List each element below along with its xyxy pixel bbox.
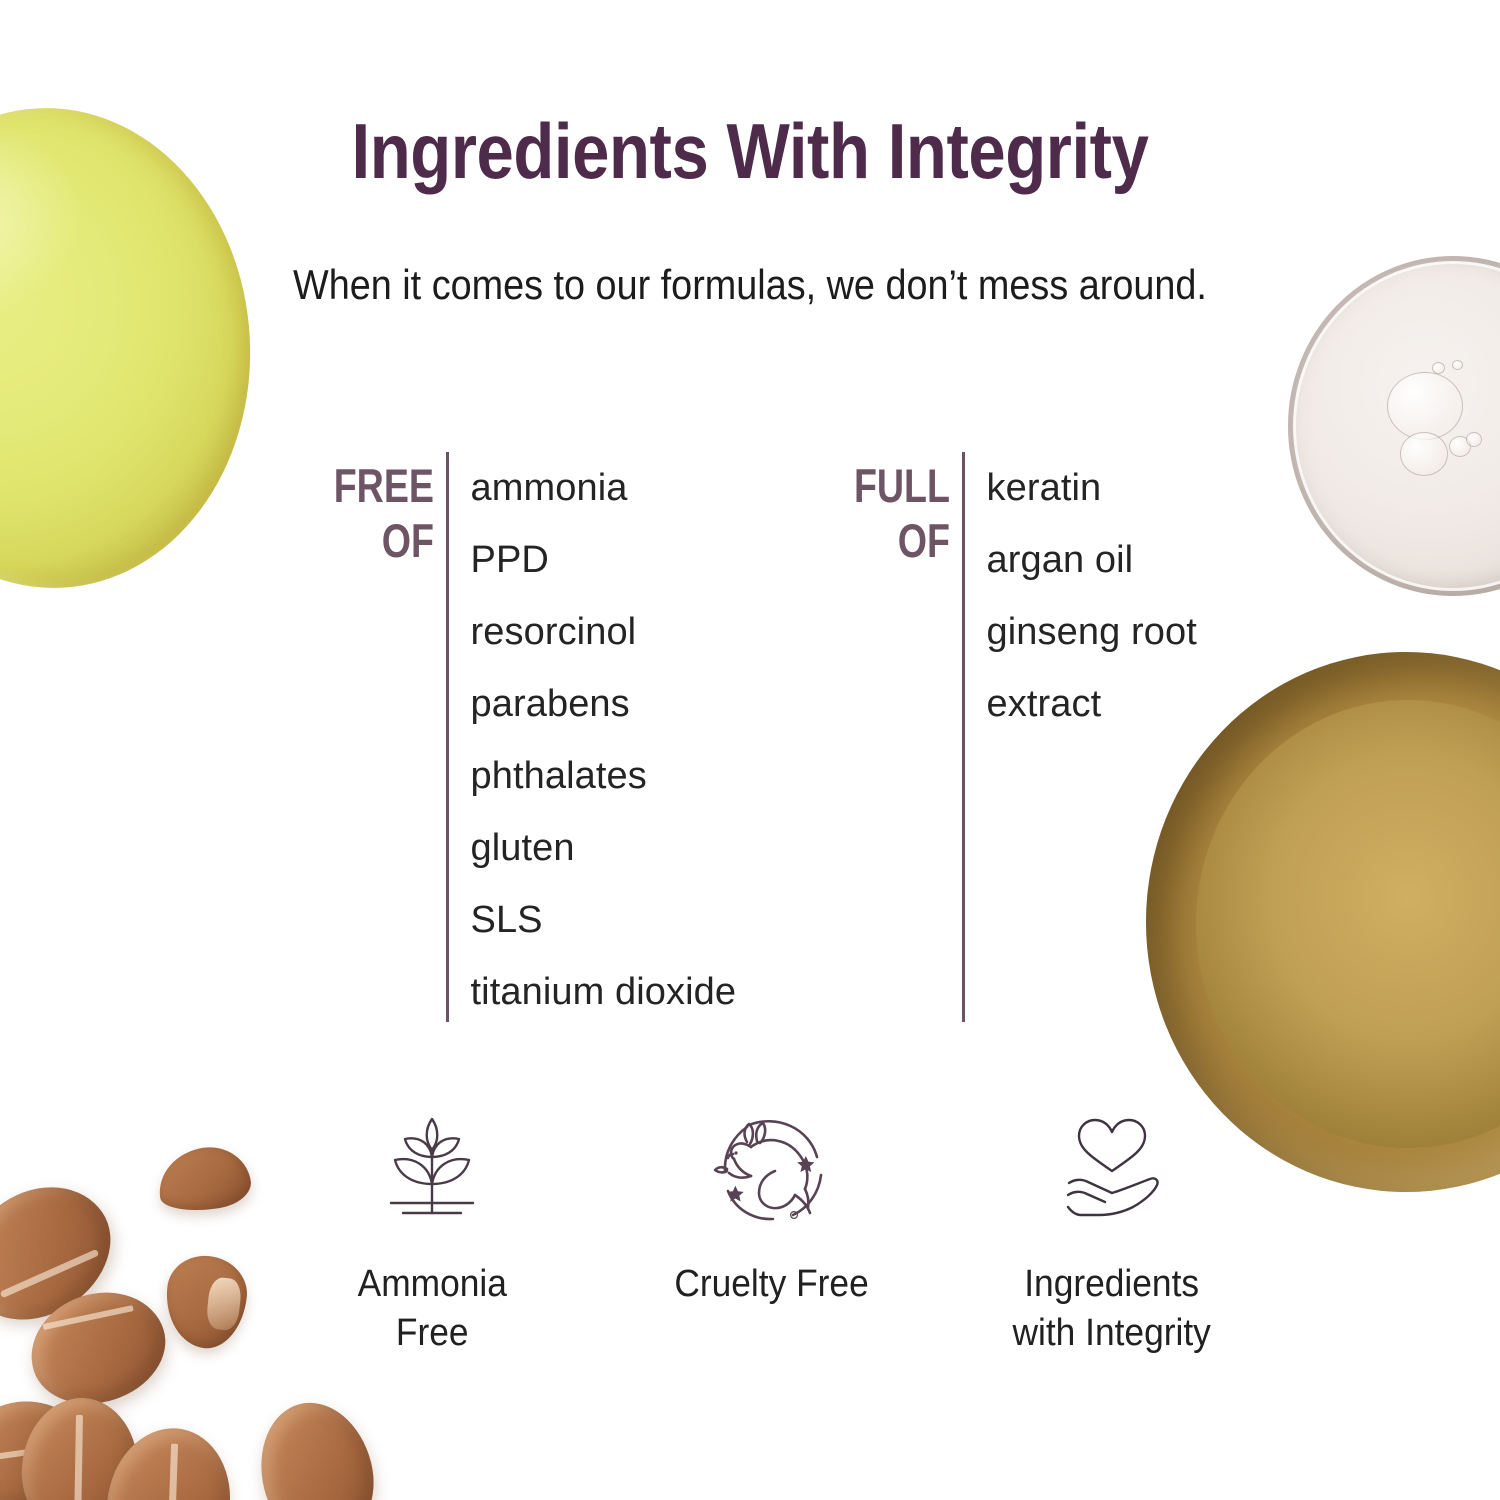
argan-nut-shard (161, 1252, 250, 1352)
list-item: SLS (471, 884, 737, 956)
product-ingredient-infographic: Ingredients With Integrity When it comes… (0, 0, 1500, 1500)
list-item: gluten (471, 812, 737, 884)
free-of-list: ammonia PPD resorcinol parabens phthalat… (471, 452, 737, 1028)
plant-sprout-icon (369, 1106, 495, 1238)
badge-label: Ingredients with Integrity (1013, 1260, 1211, 1357)
badge-cruelty-free: Cruelty Free (602, 1106, 942, 1357)
list-item: keratin (987, 452, 1197, 524)
page-subtitle: When it comes to our formulas, we don’t … (75, 256, 1425, 314)
gel-bubble (1452, 360, 1463, 370)
list-item: ammonia (471, 452, 737, 524)
list-item: parabens (471, 668, 737, 740)
list-item: phthalates (471, 740, 737, 812)
gel-bubble (1387, 372, 1463, 440)
list-item: resorcinol (471, 596, 737, 668)
argan-nut (246, 1391, 387, 1500)
full-of-column: FULL OF keratin argan oil ginseng root e… (798, 452, 1197, 1022)
argan-nut-shard (154, 1142, 254, 1216)
heart-in-hand-icon (1049, 1106, 1175, 1238)
badge-ammonia-free: Ammonia Free (262, 1106, 602, 1357)
list-item: extract (987, 668, 1197, 740)
full-of-list: keratin argan oil ginseng root extract (987, 452, 1197, 740)
full-of-label: FULL OF (828, 452, 950, 569)
gel-bubble (1466, 432, 1482, 447)
list-item: PPD (471, 524, 737, 596)
badge-ingredients-with-integrity: Ingredients with Integrity (942, 1106, 1282, 1357)
badge-label: Ammonia Free (357, 1260, 506, 1357)
leaping-bunny-icon (709, 1106, 835, 1238)
free-of-column: FREE OF ammonia PPD resorcinol parabens … (282, 452, 736, 1028)
badge-label: Cruelty Free (675, 1260, 869, 1309)
free-of-label: FREE OF (312, 452, 434, 569)
full-of-divider (962, 452, 965, 1022)
list-item: titanium dioxide (471, 956, 737, 1028)
gel-bubble (1432, 362, 1445, 374)
list-item: ginseng root (987, 596, 1197, 668)
free-of-divider (446, 452, 449, 1022)
certification-badges: Ammonia Free (262, 1106, 1282, 1357)
page-title: Ingredients With Integrity (105, 112, 1395, 190)
list-item: argan oil (987, 524, 1197, 596)
ingredient-columns: FREE OF ammonia PPD resorcinol parabens … (0, 452, 1500, 1032)
